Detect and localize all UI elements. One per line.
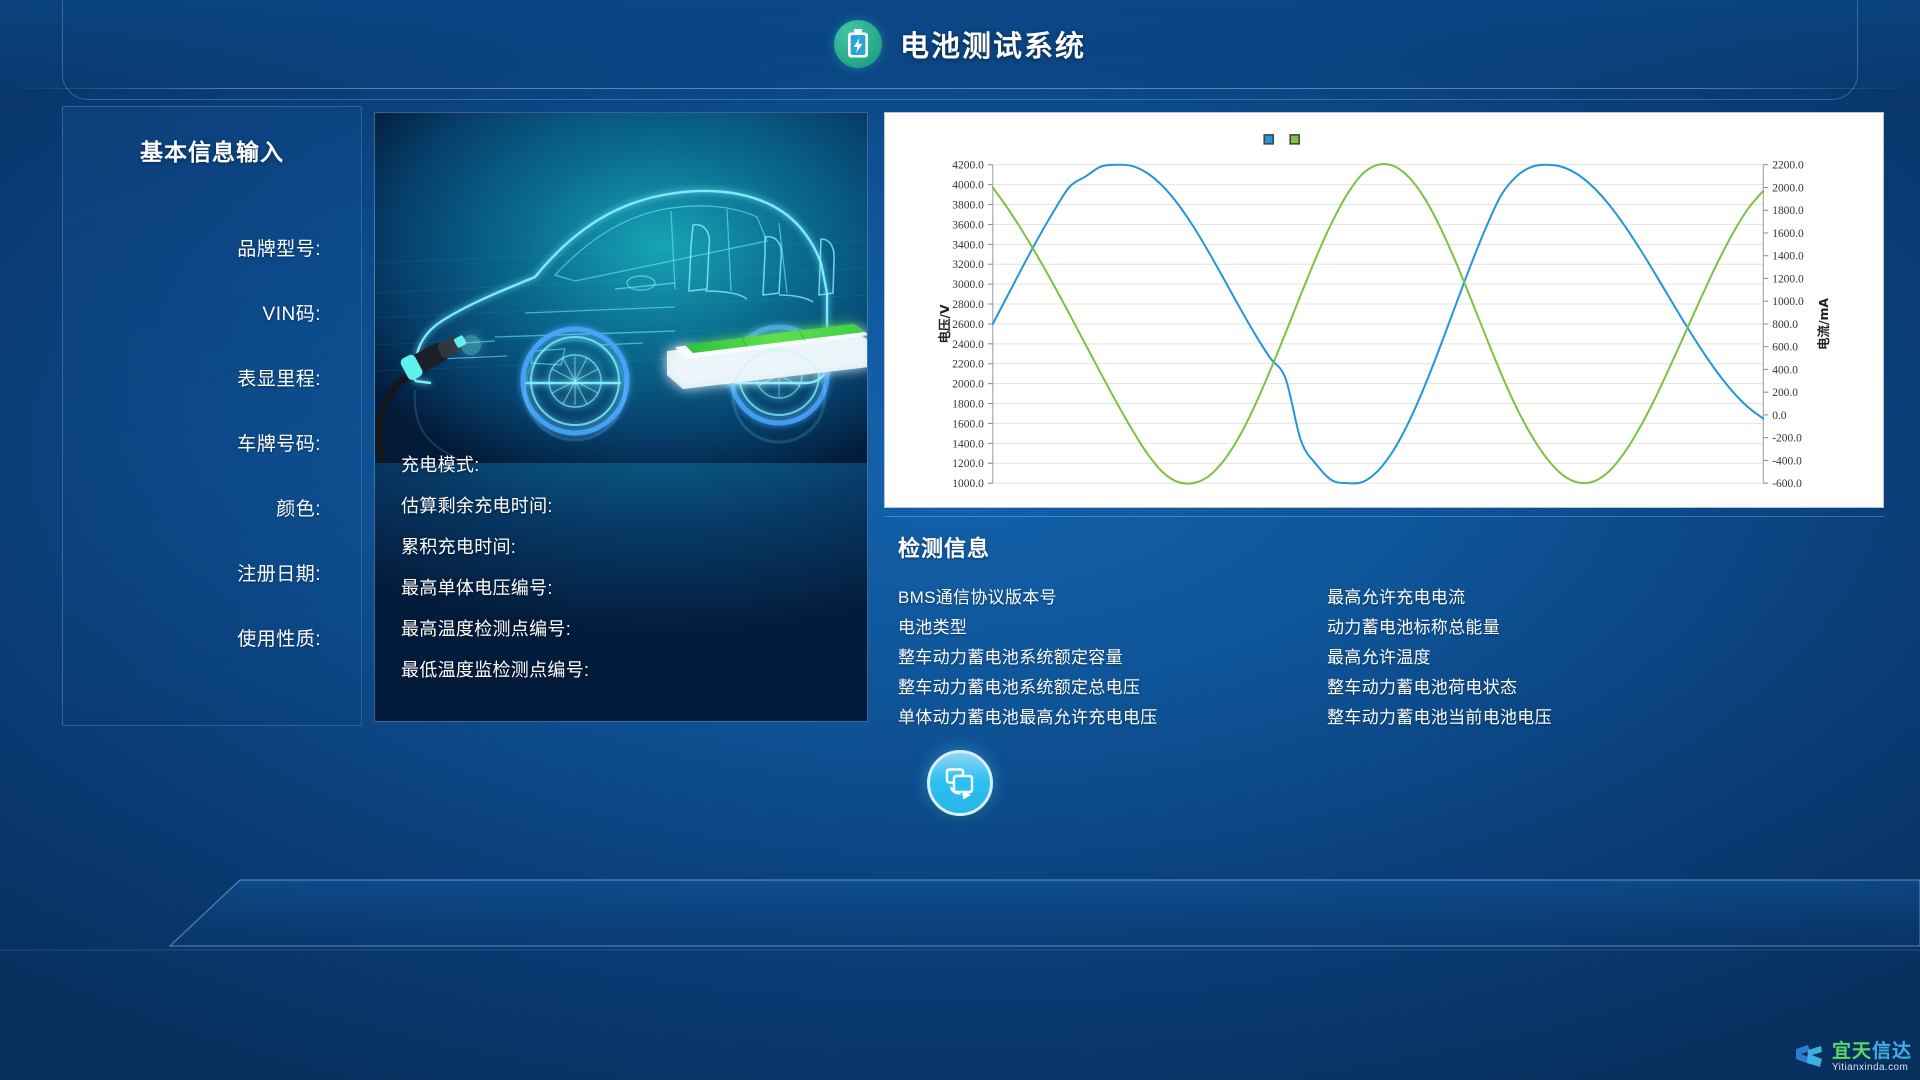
watermark: 宜天信达 Yitianxinda.com — [1792, 1040, 1912, 1074]
field-label: 充电模式: — [401, 451, 480, 477]
svg-text:4200.0: 4200.0 — [952, 160, 984, 172]
svg-text:2200.0: 2200.0 — [952, 359, 984, 371]
detection-item-state-of-charge[interactable]: 整车动力蓄电池荷电状态 — [1327, 673, 1747, 703]
svg-text:-200.0: -200.0 — [1772, 433, 1802, 445]
basic-info-panel: 基本信息输入 品牌型号: VIN码: 表显里程: 车牌号码: 颜色: 注册日期:… — [62, 106, 362, 726]
watermark-text: 宜天信达 Yitianxinda.com — [1832, 1042, 1912, 1073]
svg-text:电压/V: 电压/V — [937, 304, 952, 343]
battery-icon — [834, 20, 882, 68]
svg-text:3600.0: 3600.0 — [952, 219, 984, 231]
field-label: 表显里程: — [237, 364, 321, 391]
detection-info-column-right: 最高允许充电电流 动力蓄电池标称总能量 最高允许温度 整车动力蓄电池荷电状态 整… — [1327, 583, 1747, 733]
svg-text:400.0: 400.0 — [1772, 364, 1798, 376]
svg-text:电流/mA: 电流/mA — [1816, 298, 1831, 350]
svg-text:1600.0: 1600.0 — [1772, 228, 1804, 240]
voltage-current-chart-panel[interactable]: 4200.04000.03800.03600.03400.03200.03000… — [884, 112, 1884, 508]
detection-item-rated-total-voltage[interactable]: 整车动力蓄电池系统额定总电压 — [898, 673, 1318, 703]
bottom-stage-decoration — [0, 850, 1920, 1080]
svg-text:1200.0: 1200.0 — [1772, 273, 1804, 285]
yitianxinda-logo — [1792, 1040, 1826, 1074]
svg-text:3000.0: 3000.0 — [952, 279, 984, 291]
svg-text:200.0: 200.0 — [1772, 387, 1798, 399]
detection-item-nominal-total-energy[interactable]: 动力蓄电池标称总能量 — [1327, 613, 1747, 643]
svg-text:800.0: 800.0 — [1772, 319, 1798, 331]
svg-text:3200.0: 3200.0 — [952, 259, 984, 271]
detection-item-max-allowed-temperature[interactable]: 最高允许温度 — [1327, 643, 1747, 673]
field-max-cell-voltage-number[interactable]: 最高单体电压编号: — [401, 566, 867, 607]
field-label: 注册日期: — [237, 559, 321, 586]
field-label: 最低温度监检测点编号: — [401, 656, 589, 682]
svg-text:1000.0: 1000.0 — [1772, 296, 1804, 308]
field-register-date[interactable]: 注册日期: — [63, 540, 361, 605]
chart-canvas: 4200.04000.03800.03600.03400.03200.03000… — [885, 113, 1883, 507]
detection-info-panel: 检测信息 BMS通信协议版本号 电池类型 整车动力蓄电池系统额定容量 整车动力蓄… — [884, 516, 1884, 728]
detection-item-rated-capacity[interactable]: 整车动力蓄电池系统额定容量 — [898, 643, 1318, 673]
field-label: 最高温度检测点编号: — [401, 615, 571, 641]
svg-text:-400.0: -400.0 — [1772, 455, 1802, 467]
svg-text:2000.0: 2000.0 — [1772, 182, 1804, 194]
svg-text:2200.0: 2200.0 — [1772, 160, 1804, 172]
field-max-temperature-probe-number[interactable]: 最高温度检测点编号: — [401, 607, 867, 648]
detection-info-column-left: BMS通信协议版本号 电池类型 整车动力蓄电池系统额定容量 整车动力蓄电池系统额… — [898, 583, 1318, 733]
svg-text:1600.0: 1600.0 — [952, 418, 984, 430]
field-label: 最高单体电压编号: — [401, 574, 553, 600]
svg-text:-600.0: -600.0 — [1772, 478, 1802, 490]
field-estimated-remaining-charge-time[interactable]: 估算剩余充电时间: — [401, 484, 867, 525]
svg-text:3800.0: 3800.0 — [952, 200, 984, 212]
charging-status-fields: 充电模式: 估算剩余充电时间: 累积充电时间: 最高单体电压编号: 最高温度检测… — [375, 443, 867, 689]
field-min-temperature-probe-number[interactable]: 最低温度监检测点编号: — [401, 648, 867, 689]
svg-text:2600.0: 2600.0 — [952, 319, 984, 331]
detection-info-title: 检测信息 — [898, 531, 1884, 563]
svg-text:1200.0: 1200.0 — [952, 458, 984, 470]
svg-text:2800.0: 2800.0 — [952, 299, 984, 311]
detection-item-current-battery-voltage[interactable]: 整车动力蓄电池当前电池电压 — [1327, 703, 1747, 733]
field-color[interactable]: 颜色: — [63, 475, 361, 540]
field-plate-number[interactable]: 车牌号码: — [63, 410, 361, 475]
app-header: 电池测试系统 — [0, 0, 1920, 88]
watermark-cn-green: 宜天 — [1832, 1041, 1872, 1062]
svg-text:2000.0: 2000.0 — [952, 379, 984, 391]
svg-text:1800.0: 1800.0 — [1772, 205, 1804, 217]
refresh-switch-button[interactable] — [927, 750, 993, 816]
charging-status-panel: 充电模式: 估算剩余充电时间: 累积充电时间: 最高单体电压编号: 最高温度检测… — [374, 112, 868, 722]
field-accumulated-charge-time[interactable]: 累积充电时间: — [401, 525, 867, 566]
ev-car-illustration — [375, 113, 868, 463]
svg-text:600.0: 600.0 — [1772, 342, 1798, 354]
detection-item-bms-protocol-version[interactable]: BMS通信协议版本号 — [898, 583, 1318, 613]
detection-item-max-cell-charge-voltage[interactable]: 单体动力蓄电池最高允许充电电压 — [898, 703, 1318, 733]
field-usage-type[interactable]: 使用性质: — [63, 605, 361, 670]
svg-text:1800.0: 1800.0 — [952, 399, 984, 411]
field-label: 累积充电时间: — [401, 533, 516, 559]
field-label: VIN码: — [263, 299, 321, 326]
field-label: 使用性质: — [237, 624, 321, 651]
svg-text:1400.0: 1400.0 — [1772, 251, 1804, 263]
basic-info-fields: 品牌型号: VIN码: 表显里程: 车牌号码: 颜色: 注册日期: 使用性质: — [63, 215, 361, 670]
svg-text:2400.0: 2400.0 — [952, 339, 984, 351]
svg-text:4000.0: 4000.0 — [952, 180, 984, 192]
svg-text:1000.0: 1000.0 — [952, 478, 984, 490]
field-charge-mode[interactable]: 充电模式: — [401, 443, 867, 484]
field-vin[interactable]: VIN码: — [63, 280, 361, 345]
basic-info-title: 基本信息输入 — [63, 133, 361, 167]
page-title: 电池测试系统 — [900, 23, 1086, 65]
field-brand-model[interactable]: 品牌型号: — [63, 215, 361, 280]
watermark-cn: 宜天信达 — [1832, 1042, 1912, 1061]
detection-info-columns: BMS通信协议版本号 电池类型 整车动力蓄电池系统额定容量 整车动力蓄电池系统额… — [898, 583, 1884, 733]
watermark-cn-blue: 信达 — [1872, 1041, 1912, 1062]
field-label: 车牌号码: — [237, 429, 321, 456]
svg-text:0.0: 0.0 — [1772, 410, 1787, 422]
field-label: 估算剩余充电时间: — [401, 492, 553, 518]
field-label: 颜色: — [276, 494, 321, 521]
svg-text:3400.0: 3400.0 — [952, 239, 984, 251]
field-label: 品牌型号: — [237, 234, 321, 261]
watermark-en: Yitianxinda.com — [1832, 1063, 1912, 1073]
detection-item-max-charge-current[interactable]: 最高允许充电电流 — [1327, 583, 1747, 613]
header-divider — [0, 88, 1920, 89]
field-odometer[interactable]: 表显里程: — [63, 345, 361, 410]
svg-text:1400.0: 1400.0 — [952, 438, 984, 450]
detection-item-battery-type[interactable]: 电池类型 — [898, 613, 1318, 643]
